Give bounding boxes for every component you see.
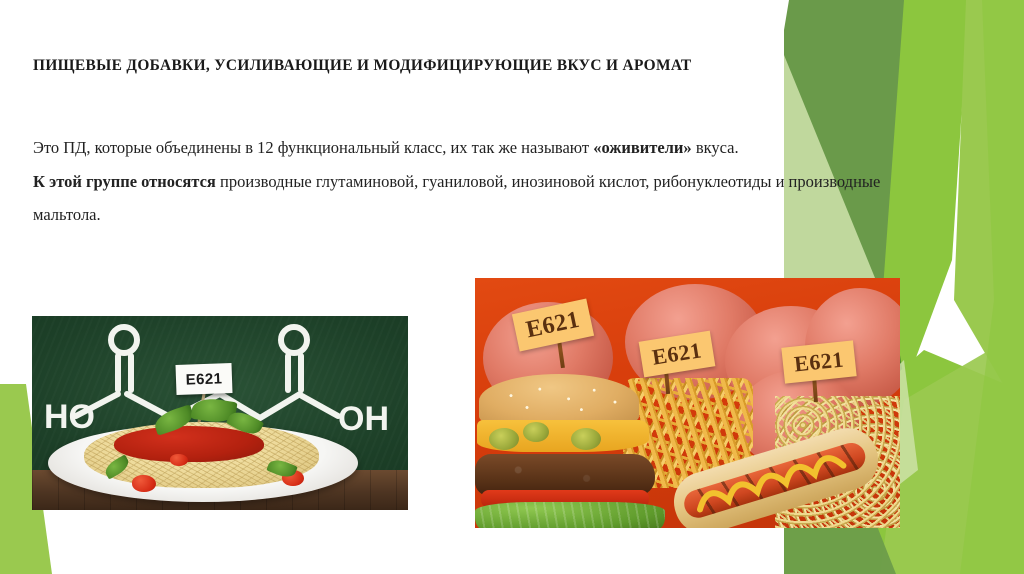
e621-label-card: E621 [175, 363, 232, 395]
bond-right-to-oh [302, 396, 338, 416]
image-fast-food-e621: E621 E621 E621 [475, 278, 900, 528]
paragraph-1-part-1: Это ПД, которые объединены в 12 функцион… [33, 138, 593, 157]
e621-sign: E621 [781, 340, 856, 383]
decor-shape-lower-bright [880, 330, 1024, 574]
paragraph-1-part-3: вкуса. [692, 138, 739, 157]
slide-canvas: ПИЩЕВЫЕ ДОБАВКИ, УСИЛИВАЮЩИЕ И МОДИФИЦИР… [0, 0, 1024, 574]
tomato-piece [132, 475, 156, 492]
paragraph-1: Это ПД, которые объединены в 12 функцион… [33, 132, 913, 164]
pickle-slice [489, 428, 519, 450]
decor-shape-right-edge [960, 0, 1024, 574]
tomato-piece [170, 454, 188, 466]
chem-label-oh: OH [338, 400, 389, 438]
bond-chain-right [260, 394, 300, 418]
body-text: Это ПД, которые объединены в 12 функцион… [33, 132, 913, 233]
pickle-slice [571, 428, 601, 450]
decor-shape-bright-green [954, 0, 1024, 420]
pickle-slice [523, 422, 549, 442]
paragraph-1-emphasis: «оживители» [593, 138, 691, 157]
page-title: ПИЩЕВЫЕ ДОБАВКИ, УСИЛИВАЮЩИЕ И МОДИФИЦИР… [33, 57, 823, 75]
oxygen-circle-right [281, 327, 307, 353]
paragraph-2: К этой группе относятся производные глут… [33, 166, 913, 231]
image-glutamic-acid-spaghetti: HO OH E621 [32, 316, 408, 510]
paragraph-2-emphasis: К этой группе относятся [33, 172, 216, 191]
oxygen-circle-left [111, 327, 137, 353]
burger-lettuce [475, 502, 665, 528]
